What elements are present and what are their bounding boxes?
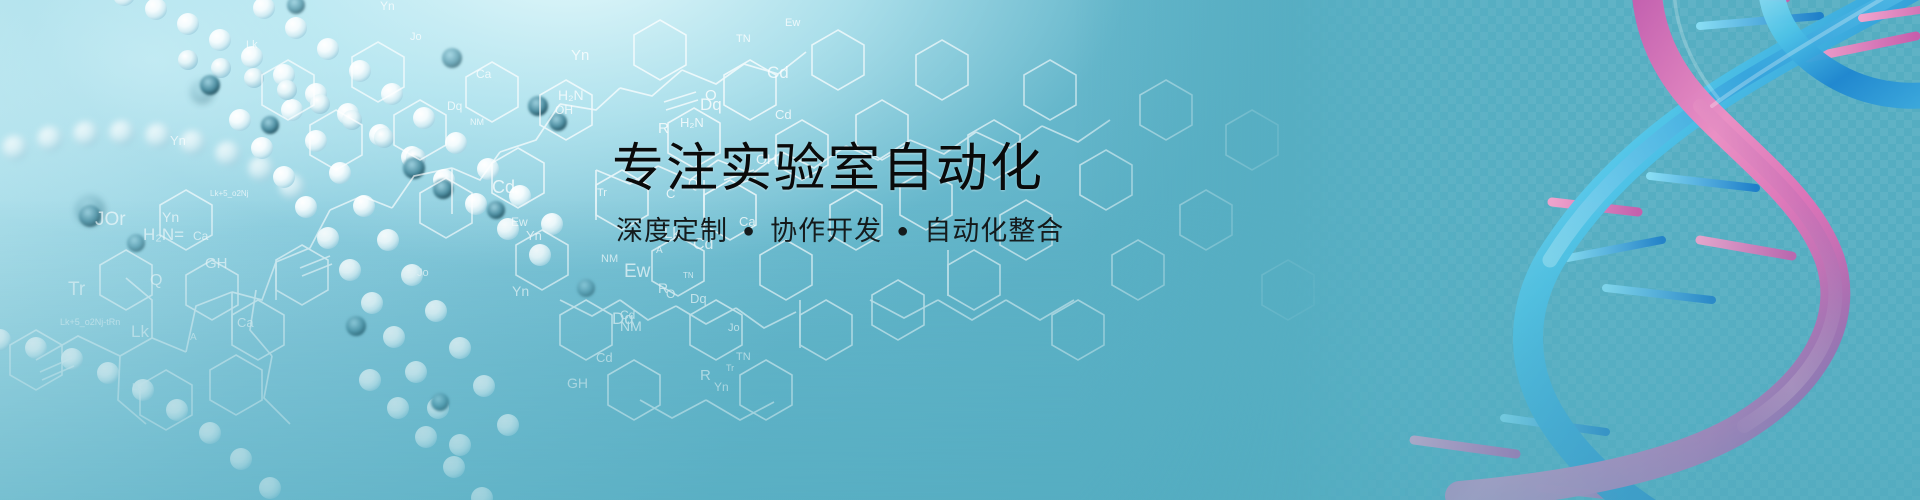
promo-banner: TrLk+5_o2Nj-tRnLkJOrH₂N=QGHCaCaYnYnLk+5_…	[0, 0, 1920, 500]
background-lower-fade	[0, 0, 1920, 500]
